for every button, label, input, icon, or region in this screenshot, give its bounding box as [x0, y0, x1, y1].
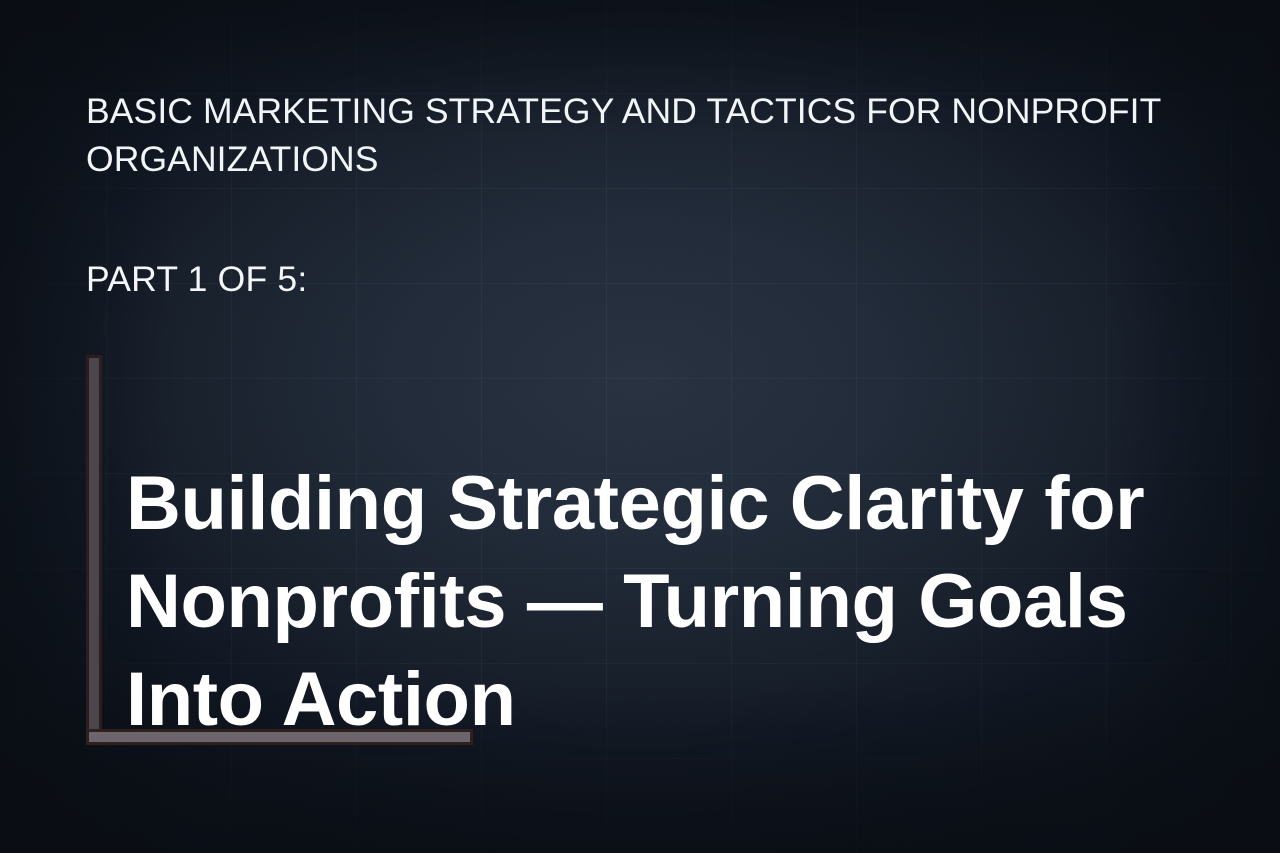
headline-line: Into Action [126, 651, 1156, 749]
part-label: PART 1 OF 5: [86, 256, 307, 302]
bracket-vertical-segment [86, 355, 102, 745]
slide-headline: Building Strategic Clarity for Nonprofit… [126, 455, 1156, 749]
headline-line: Building Strategic Clarity for [126, 455, 1156, 553]
slide-eyebrow: BASIC MARKETING STRATEGY AND TACTICS FOR… [86, 88, 1171, 183]
title-slide: BASIC MARKETING STRATEGY AND TACTICS FOR… [0, 0, 1280, 853]
slide-content: BASIC MARKETING STRATEGY AND TACTICS FOR… [0, 0, 1280, 853]
headline-line: Nonprofits — Turning Goals [126, 553, 1156, 651]
